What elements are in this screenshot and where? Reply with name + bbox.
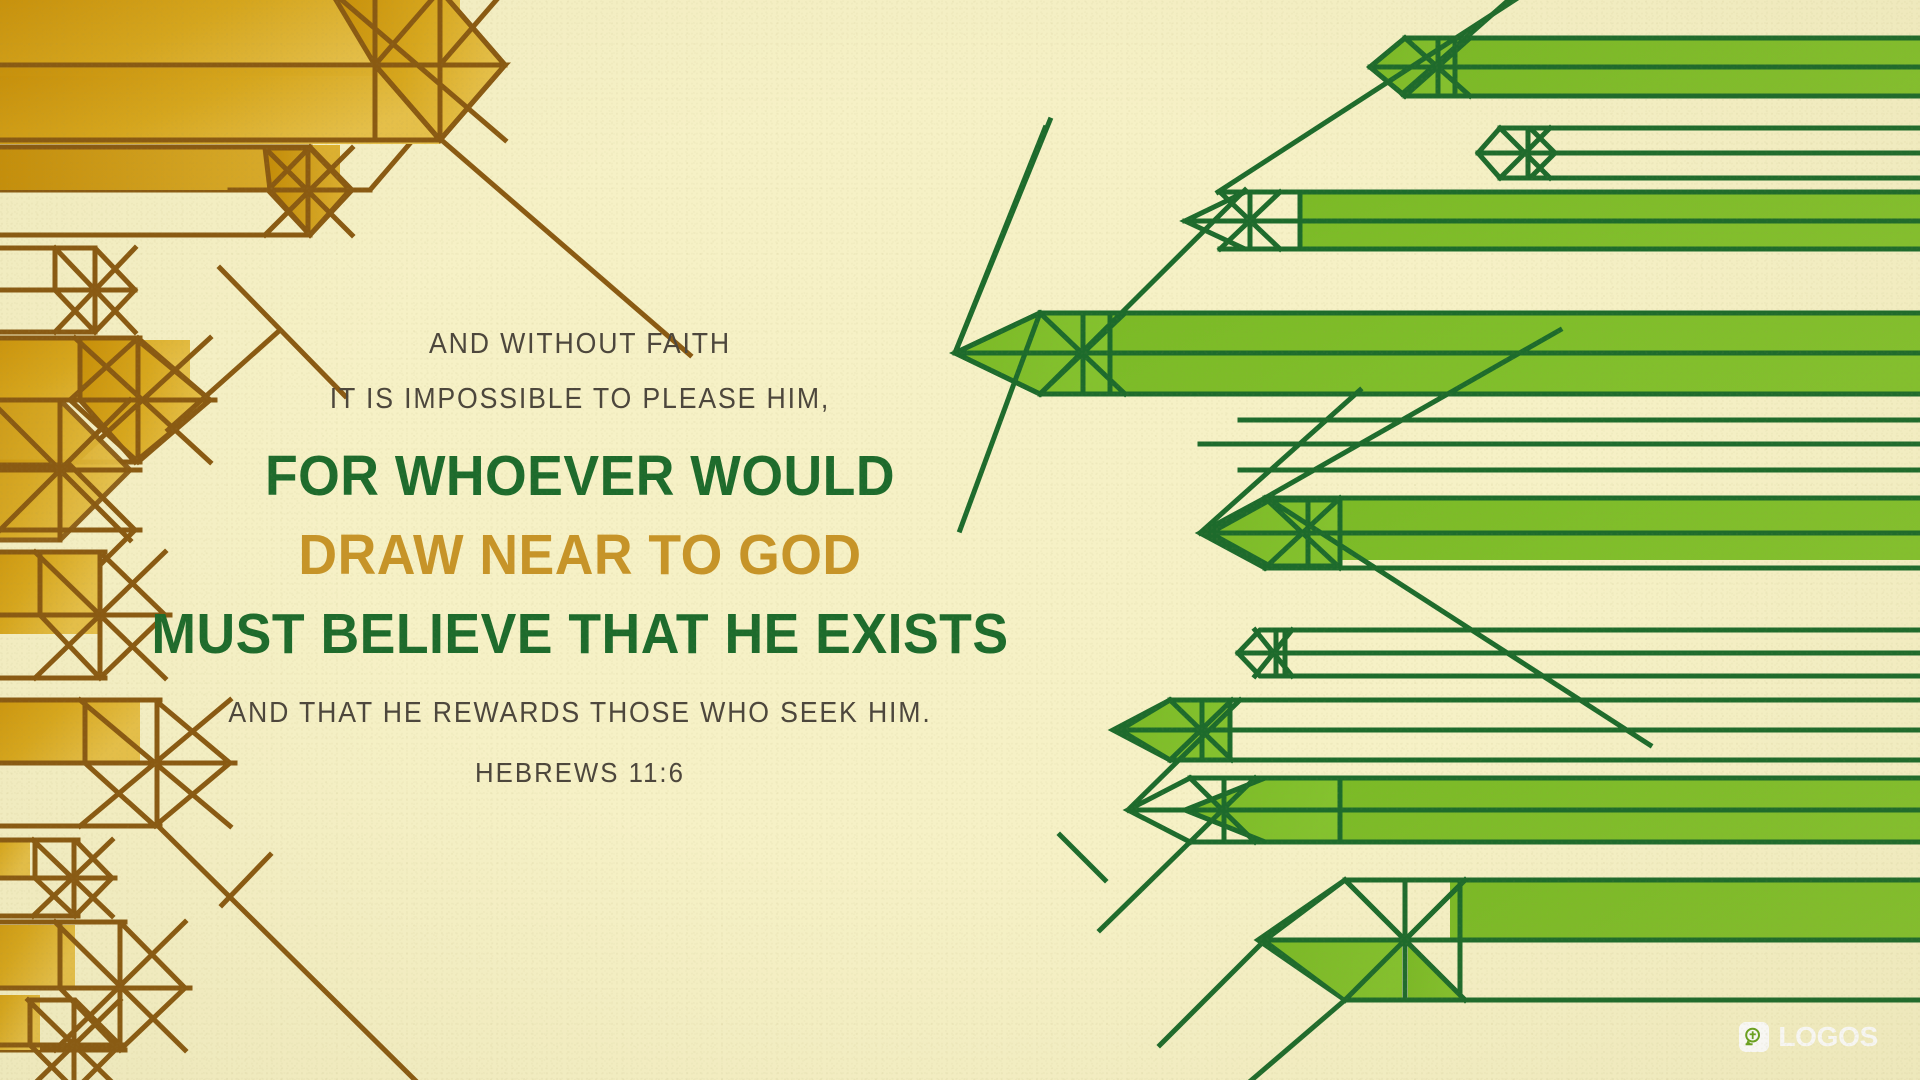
verse-intro-line-2: IT IS IMPOSSIBLE TO PLEASE HIM, — [46, 385, 1113, 414]
logos-brand-logo[interactable]: LOGOS — [1739, 1022, 1878, 1052]
verse-text-block: AND WITHOUT FAITH IT IS IMPOSSIBLE TO PL… — [0, 330, 1160, 789]
verse-graphic-canvas: AND WITHOUT FAITH IT IS IMPOSSIBLE TO PL… — [0, 0, 1920, 1080]
logos-wordmark: LOGOS — [1778, 1023, 1878, 1051]
verse-outro-line: AND THAT HE REWARDS THOSE WHO SEEK HIM. — [46, 699, 1113, 728]
magnifier-cross-icon — [1739, 1022, 1769, 1052]
verse-reference: HEBREWS 11:6 — [46, 757, 1113, 789]
verse-emphasis-line-2: DRAW NEAR TO GOD — [35, 527, 1125, 584]
verse-emphasis-line-1: FOR WHOEVER WOULD — [35, 448, 1125, 505]
verse-emphasis-line-3: MUST BELIEVE THAT HE EXISTS — [35, 606, 1125, 663]
verse-intro-line-1: AND WITHOUT FAITH — [46, 330, 1113, 359]
